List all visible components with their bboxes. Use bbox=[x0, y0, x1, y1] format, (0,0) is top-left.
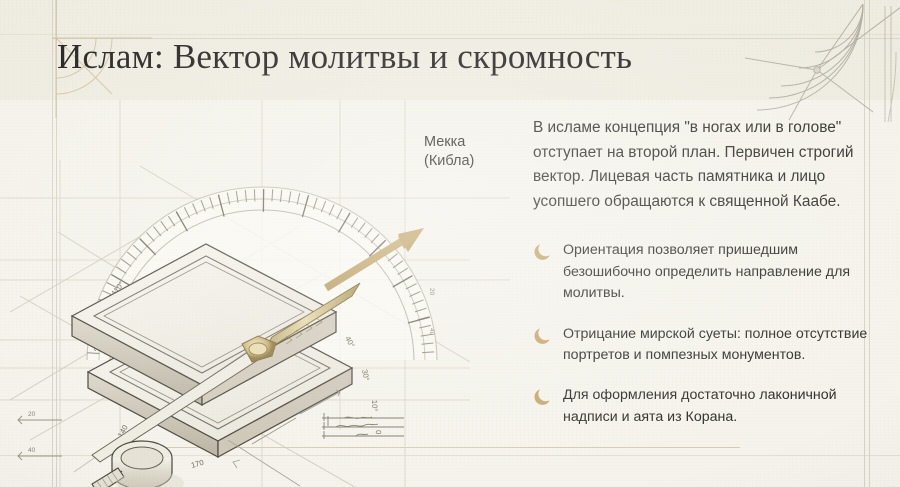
crescent-moon-icon bbox=[533, 241, 553, 261]
list-item: Отрицание мирской суеты: полное отсутств… bbox=[533, 324, 878, 367]
crescent-moon-icon bbox=[533, 325, 553, 345]
list-item: Для оформления достаточно лаконичной над… bbox=[533, 385, 878, 428]
list-item-text: Ориентация позволяет пришедшим безошибоч… bbox=[563, 242, 850, 301]
mecca-label-line1: Мекка bbox=[424, 134, 465, 150]
svg-text:40: 40 bbox=[28, 447, 36, 454]
corner-ornament-top-right bbox=[745, 0, 900, 122]
svg-text:30°: 30° bbox=[360, 369, 371, 382]
list-item: Ориентация позволяет пришедшим безошибоч… bbox=[533, 240, 878, 304]
page-title: Ислам: Вектор молитвы и скромность bbox=[57, 36, 632, 78]
svg-text:20: 20 bbox=[428, 288, 435, 296]
list-item-text: Отрицание мирской суеты: полное отсутств… bbox=[563, 326, 867, 363]
list-item-text: Для оформления достаточно лаконичной над… bbox=[563, 387, 837, 424]
svg-text:20: 20 bbox=[28, 411, 36, 418]
magnifier-loupe bbox=[84, 441, 184, 487]
svg-text:0: 0 bbox=[374, 430, 383, 435]
slide-canvas: 110° 110° 100° 70° 60° 50° 40° 30° 10° 0… bbox=[0, 0, 900, 487]
svg-text:10°: 10° bbox=[370, 400, 379, 412]
content-column: В исламе концепция "в ногах или в голове… bbox=[533, 116, 878, 447]
intro-paragraph: В исламе концепция "в ногах или в голове… bbox=[533, 116, 878, 214]
svg-text:40: 40 bbox=[428, 328, 435, 336]
mecca-callout-label: Мекка (Кибла) bbox=[424, 133, 524, 171]
handwritten-notes bbox=[322, 413, 404, 439]
mecca-label-line2: (Кибла) bbox=[424, 152, 524, 171]
svg-text:170: 170 bbox=[190, 458, 205, 470]
crescent-moon-icon bbox=[533, 386, 553, 406]
